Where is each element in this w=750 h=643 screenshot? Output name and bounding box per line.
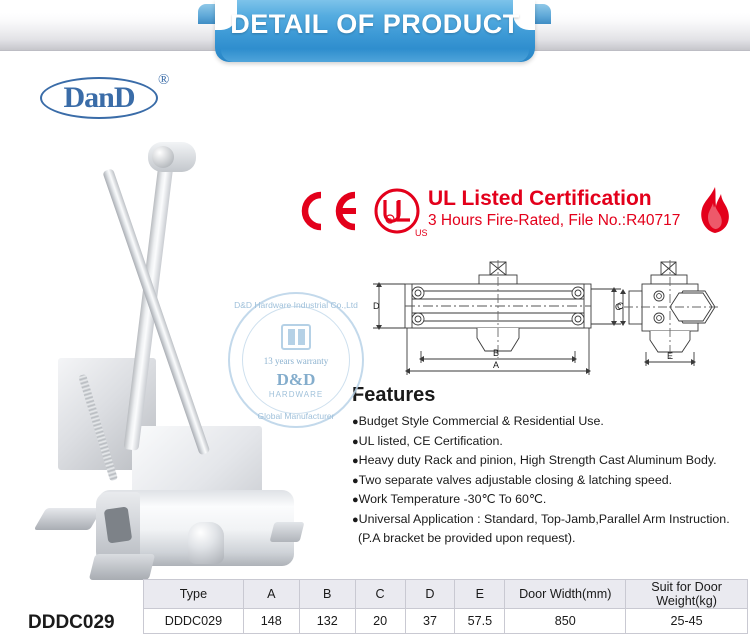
column-header-type: Type	[144, 580, 244, 609]
seal-subbrand-text: HARDWARE	[230, 390, 362, 399]
column-header-door-weight: Suit for Door Weight(kg)	[626, 580, 748, 609]
table-header: Type A B C D E Door Width(mm) Suit for D…	[144, 580, 748, 609]
feature-item: ●Budget Style Commercial & Residential U…	[352, 412, 750, 432]
drawing-svg: D C B A	[365, 258, 750, 383]
feature-text: Universal Application : Standard, Top-Ja…	[359, 512, 730, 526]
technical-drawings: D C B A	[365, 258, 750, 383]
cell-e: 57.5	[455, 609, 505, 634]
table-row: DDDC029 148 132 20 37 57.5 850 25-45	[144, 609, 748, 634]
column-header-door-width: Door Width(mm)	[505, 580, 626, 609]
column-header-e: E	[455, 580, 505, 609]
feature-continuation: (P.A bracket be provided upon request).	[352, 529, 750, 548]
feature-item: ●Work Temperature -30℃ To 60℃.	[352, 490, 750, 510]
cell-a: 148	[243, 609, 299, 634]
feature-item: ●UL listed, CE Certification.	[352, 432, 750, 452]
ul-certification-icon: R US	[371, 187, 429, 239]
features-heading: Features	[352, 384, 750, 407]
seal-company-name: D&D Hardware Industrial Co.,Ltd	[230, 300, 362, 310]
product-spindle-hole	[104, 506, 132, 543]
table-body: DDDC029 148 132 20 37 57.5 850 25-45	[144, 609, 748, 634]
feature-item: ●Heavy duty Rack and pinion, High Streng…	[352, 451, 750, 471]
registered-trademark-icon: ®	[158, 72, 169, 89]
bullet-icon: ●	[352, 475, 359, 487]
logo-text: DanD	[40, 77, 158, 119]
svg-text:C: C	[615, 302, 622, 312]
svg-text:A: A	[493, 360, 499, 370]
column-header-c: C	[355, 580, 405, 609]
seal-warranty-text: 13 years warranty	[230, 356, 362, 366]
svg-text:B: B	[493, 348, 499, 358]
feature-text: Work Temperature -30℃ To 60℃.	[359, 492, 547, 506]
certification-subtitle: 3 Hours Fire-Rated, File No.:R40717	[428, 212, 680, 230]
svg-text:E: E	[667, 351, 673, 361]
cell-door-width: 850	[505, 609, 626, 634]
column-header-d: D	[405, 580, 455, 609]
feature-text: UL listed, CE Certification.	[359, 434, 503, 448]
bullet-icon: ●	[352, 494, 359, 506]
table-header-row: Type A B C D E Door Width(mm) Suit for D…	[144, 580, 748, 609]
svg-text:D: D	[373, 301, 380, 311]
bullet-icon: ●	[352, 455, 359, 467]
features-section: Features ●Budget Style Commercial & Resi…	[352, 384, 750, 548]
flame-icon	[695, 185, 735, 239]
cell-d: 37	[405, 609, 455, 634]
svg-text:US: US	[415, 228, 428, 238]
specification-table: Type A B C D E Door Width(mm) Suit for D…	[143, 579, 748, 634]
seal-brand-text: D&D	[230, 370, 362, 390]
product-arm-shoe	[34, 508, 103, 530]
product-adjustment-knob	[188, 522, 224, 564]
product-foot-right	[270, 522, 305, 542]
cell-door-weight: 25-45	[626, 609, 748, 634]
feature-text: Two separate valves adjustable closing &…	[359, 473, 672, 487]
feature-item: ●Two separate valves adjustable closing …	[352, 471, 750, 491]
feature-text: Budget Style Commercial & Residential Us…	[359, 414, 604, 428]
product-arm-pivot	[152, 146, 174, 168]
cell-b: 132	[299, 609, 355, 634]
model-number-label: DDDC029	[28, 612, 115, 634]
ce-mark-icon	[295, 189, 361, 233]
column-header-a: A	[243, 580, 299, 609]
page-header: DETAIL OF PRODUCT	[0, 0, 750, 70]
seal-tagline: Global Manufacturer	[230, 411, 362, 421]
cell-c: 20	[355, 609, 405, 634]
brand-logo: DanD ®	[40, 72, 180, 124]
feature-text: Heavy duty Rack and pinion, High Strengt…	[359, 453, 717, 467]
watermark-seal: D&D Hardware Industrial Co.,Ltd 13 years…	[228, 292, 364, 428]
seal-logo-icon	[281, 324, 311, 350]
svg-text:R: R	[388, 218, 392, 224]
page-title: DETAIL OF PRODUCT	[0, 0, 750, 49]
certification-title: UL Listed Certification	[428, 187, 652, 211]
product-foot-left	[89, 554, 155, 580]
column-header-b: B	[299, 580, 355, 609]
cell-type: DDDC029	[144, 609, 244, 634]
bullet-icon: ●	[352, 514, 359, 526]
certification-row: R US UL Listed Certification 3 Hours Fir…	[295, 185, 750, 245]
feature-item: ●Universal Application : Standard, Top-J…	[352, 510, 750, 530]
bullet-icon: ●	[352, 436, 359, 448]
